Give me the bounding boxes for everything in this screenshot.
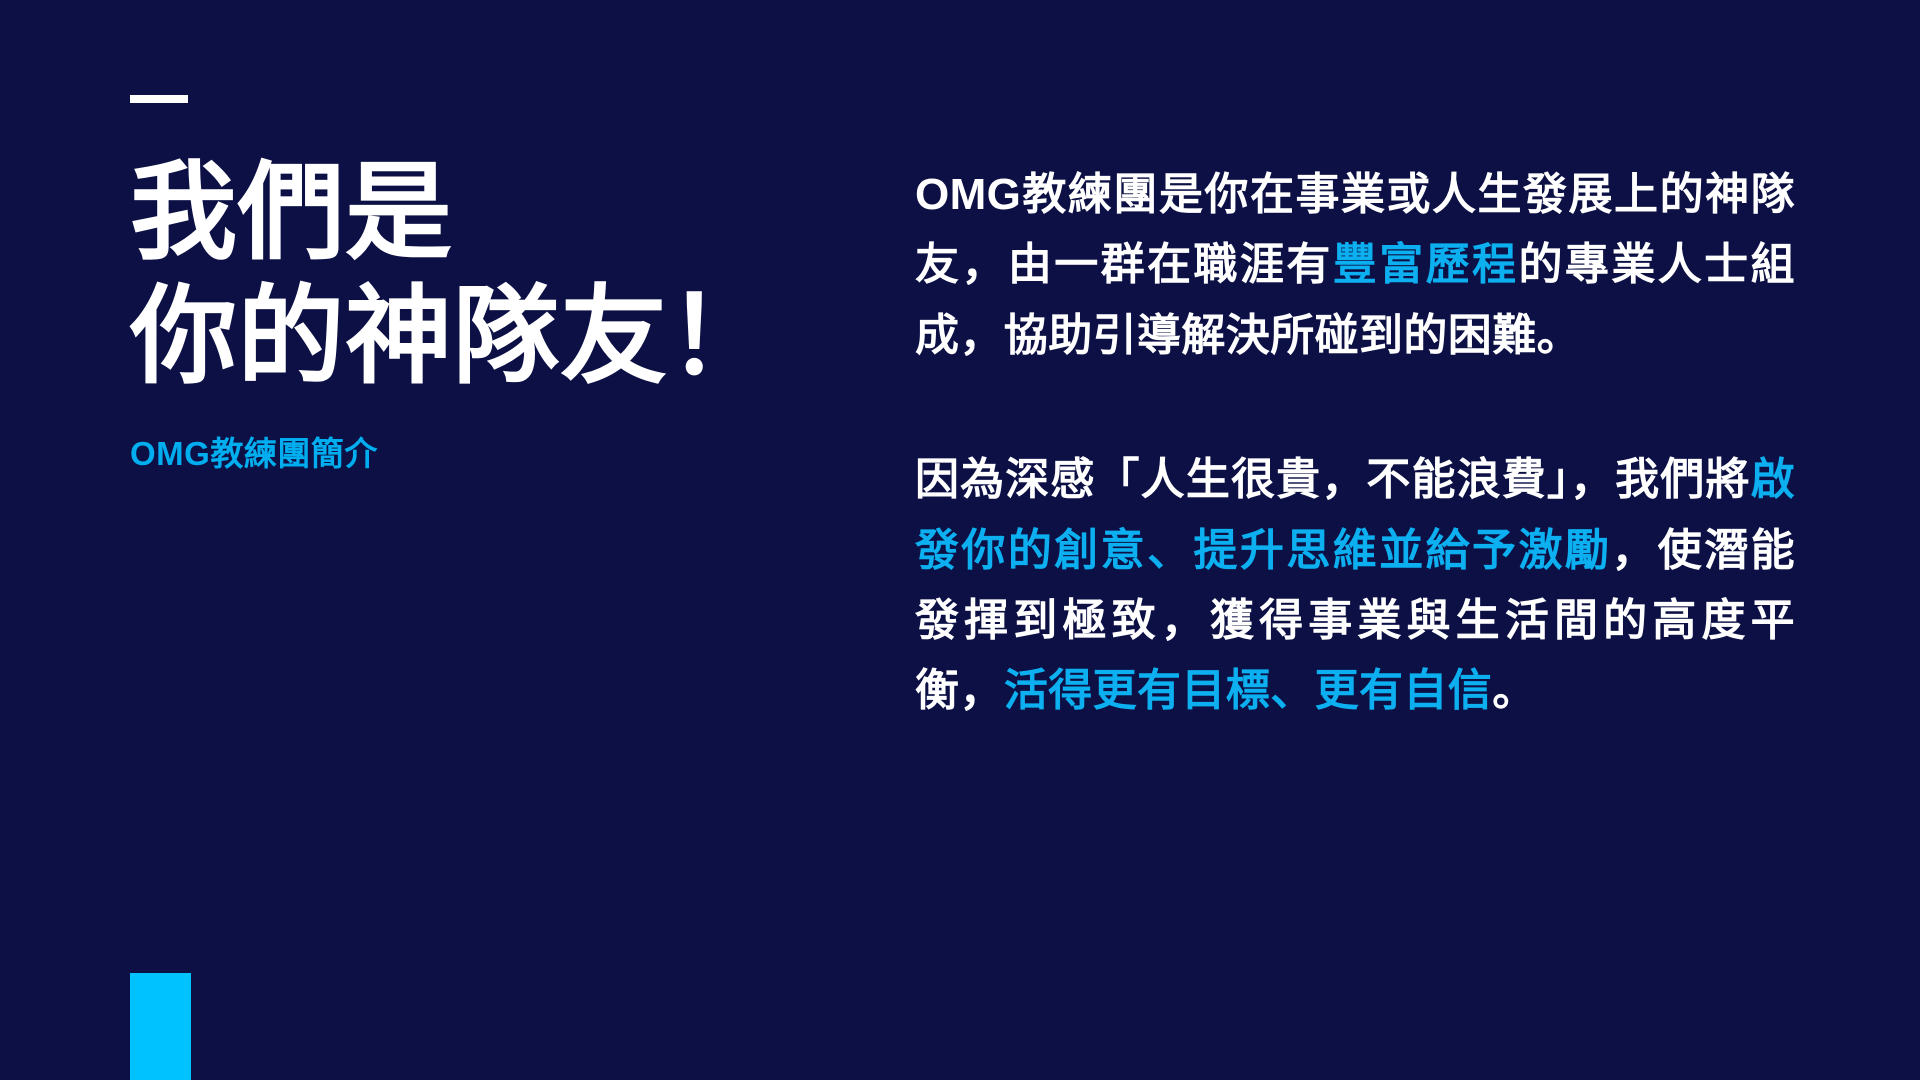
page-title-line-1: 我們是: [130, 150, 830, 274]
body-paragraph-1: OMG教練團是你在事業或人生發展上的神隊友，由一群在職涯有豐富歷程的專業人士組成…: [915, 160, 1795, 371]
page-title-line-2: 你的神隊友！: [130, 274, 830, 398]
paragraph-2-segment-1: 因為深感「人生很貴，不能浪費」，我們將: [915, 455, 1751, 504]
paragraph-2-highlight-2: 活得更有目標、更有自信: [1004, 666, 1492, 715]
page-subtitle: OMG教練團簡介: [130, 398, 830, 474]
right-column: OMG教練團是你在事業或人生發展上的神隊友，由一群在職涯有豐富歷程的專業人士組成…: [915, 160, 1795, 727]
left-column: 我們是 你的神隊友！ OMG教練團簡介: [130, 150, 830, 474]
corner-bar-accent-icon: [130, 973, 191, 1080]
body-paragraph-2: 因為深感「人生很貴，不能浪費」，我們將啟發你的創意、提升思維並給予激勵，使潛能發…: [915, 445, 1795, 727]
paragraph-2-segment-5: 。: [1492, 666, 1536, 715]
page-title: 我們是 你的神隊友！: [130, 150, 830, 398]
slide-root: 我們是 你的神隊友！ OMG教練團簡介 OMG教練團是你在事業或人生發展上的神隊…: [0, 0, 1920, 1080]
paragraph-1-highlight-1: 豐富歷程: [1333, 240, 1519, 289]
top-dash-accent-icon: [130, 95, 188, 103]
